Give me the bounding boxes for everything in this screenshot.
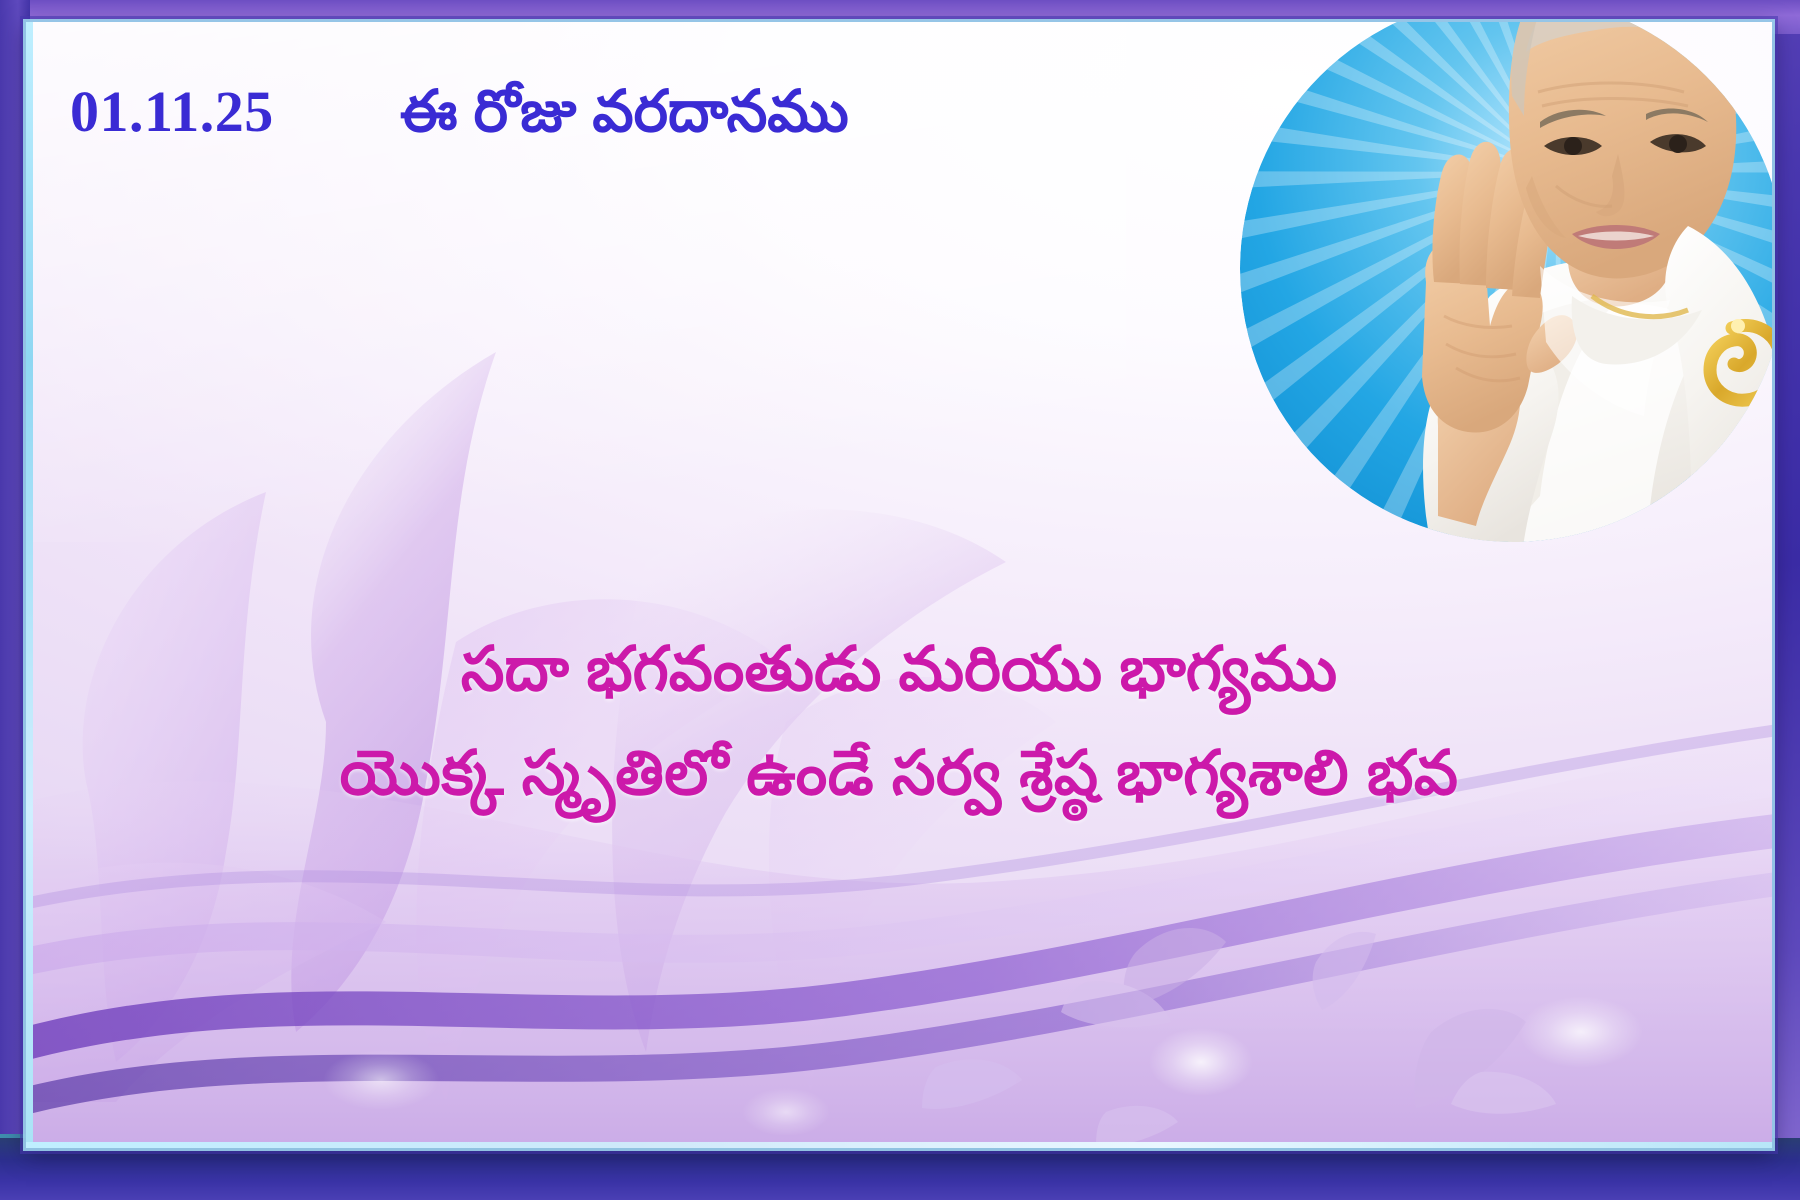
message-line-1: సదా భగవంతుడు మరియు భాగ్యము bbox=[66, 618, 1732, 722]
header-row: 01.11.25 ఈ రోజు వరదానము bbox=[26, 78, 1772, 160]
decorative-frame: 01.11.25 ఈ రోజు వరదానము సదా భగవంతుడు మరి… bbox=[0, 0, 1800, 1200]
message-line-2: యొక్క స్మృతిలో ఉండే సర్వ శ్రేష్ఠ భాగ్యశా… bbox=[66, 722, 1732, 826]
wave-ribbon bbox=[26, 812, 1772, 1066]
card-left-edge-highlight bbox=[26, 22, 33, 1148]
floating-leaves bbox=[922, 928, 1556, 1146]
message-block: సదా భగవంతుడు మరియు భాగ్యము యొక్క స్మృతిల… bbox=[26, 618, 1772, 826]
greeting-card: 01.11.25 ఈ రోజు వరదానము సదా భగవంతుడు మరి… bbox=[26, 22, 1772, 1148]
page-title: ఈ రోజు వరదానము bbox=[400, 78, 849, 160]
wave-ribbon bbox=[26, 870, 1772, 1120]
date-label: 01.11.25 bbox=[70, 78, 274, 145]
card-bottom-edge-highlight bbox=[26, 1142, 1772, 1148]
